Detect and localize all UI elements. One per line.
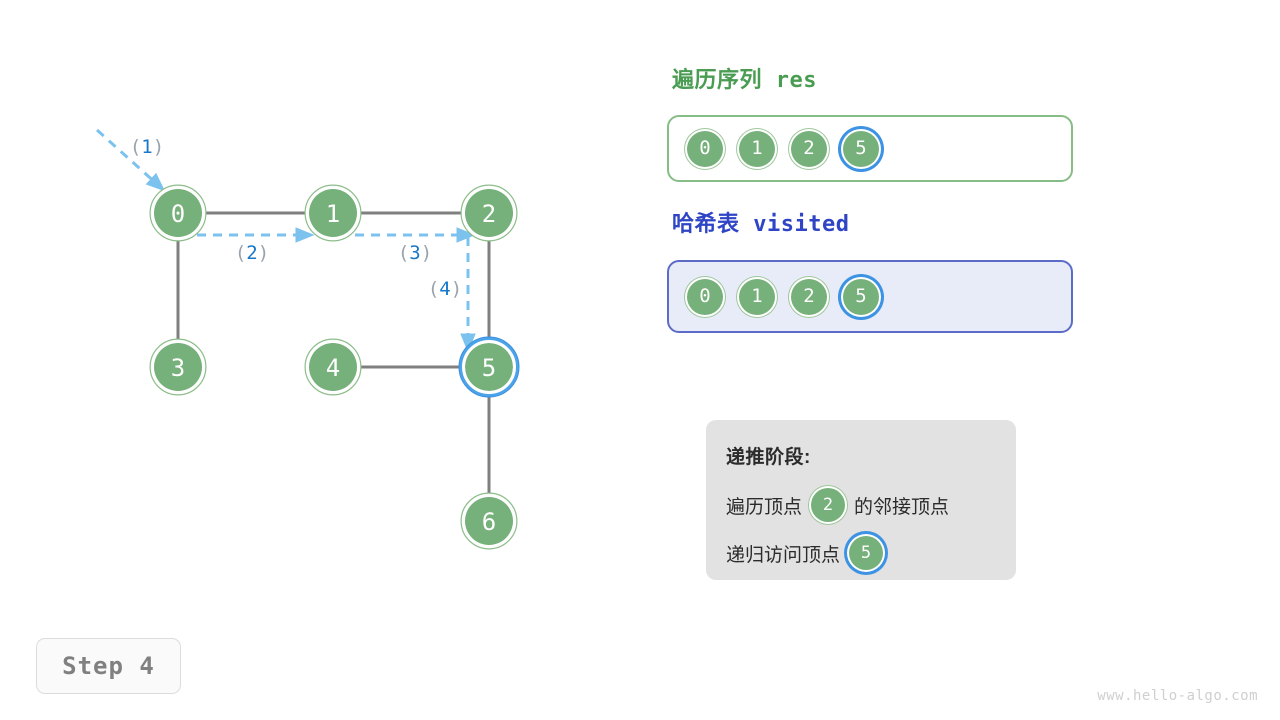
- graph-canvas: (1) (2) (3) (4) 0 1: [0, 0, 640, 720]
- info-line-1-suffix: 的邻接顶点: [854, 492, 949, 519]
- visited-chip-2-label: 2: [788, 276, 830, 318]
- visited-chip-2: 2: [788, 276, 830, 318]
- visited-section-title: 哈希表 visited: [672, 206, 849, 238]
- graph-node-2-label: 2: [482, 200, 496, 228]
- info-line-1-chip-label: 2: [808, 485, 848, 525]
- res-chip-1-label: 1: [736, 128, 778, 170]
- visited-chip-0-label: 0: [684, 276, 726, 318]
- res-chip-row: 0 1 2 5: [684, 117, 882, 180]
- visited-chip-3-label: 5: [840, 276, 882, 318]
- traversal-step-label-2: (2): [235, 242, 269, 264]
- res-chip-1: 1: [736, 128, 778, 170]
- graph-node-3-label: 3: [171, 354, 185, 382]
- info-line-2-prefix: 递归访问顶点: [726, 540, 840, 567]
- res-chip-3: 5: [840, 128, 882, 170]
- info-box-line-2: 递归访问顶点 5: [726, 533, 1016, 573]
- res-section-title: 遍历序列 res: [672, 62, 817, 94]
- step-badge-label: Step 4: [62, 652, 155, 680]
- info-line-2-chip: 5: [846, 533, 886, 573]
- traversal-step-label-4: (4): [428, 278, 462, 300]
- res-chip-2-label: 2: [788, 128, 830, 170]
- traversal-arrows: [97, 130, 468, 343]
- right-panel: 遍历序列 res 0 1 2 5 哈希表 visited: [640, 0, 1280, 720]
- graph-node-6[interactable]: 6: [462, 494, 517, 549]
- traversal-step-label-3: (3): [398, 242, 432, 264]
- graph-node-2[interactable]: 2: [462, 186, 517, 241]
- res-chip-2: 2: [788, 128, 830, 170]
- visited-chip-0: 0: [684, 276, 726, 318]
- traversal-step-label-1: (1): [130, 136, 164, 158]
- graph-node-1-label: 1: [326, 200, 340, 228]
- visited-chip-row: 0 1 2 5: [684, 262, 882, 331]
- res-chip-0-label: 0: [684, 128, 726, 170]
- graph-panel: (1) (2) (3) (4) 0 1: [0, 0, 640, 720]
- graph-node-5[interactable]: 5: [460, 338, 518, 396]
- graph-node-3[interactable]: 3: [151, 340, 206, 395]
- graph-node-4-label: 4: [326, 354, 340, 382]
- graph-node-5-label: 5: [482, 354, 496, 382]
- visited-array-box: 0 1 2 5: [667, 260, 1073, 333]
- info-line-1-prefix: 遍历顶点: [726, 492, 802, 519]
- res-array-box: 0 1 2 5: [667, 115, 1073, 182]
- watermark: www.hello-algo.com: [1097, 688, 1258, 704]
- res-chip-3-label: 5: [840, 128, 882, 170]
- visited-chip-1: 1: [736, 276, 778, 318]
- info-box-line-1: 遍历顶点 2 的邻接顶点: [726, 485, 1016, 525]
- step-badge: Step 4: [36, 638, 181, 694]
- info-line-1-chip: 2: [808, 485, 848, 525]
- graph-node-6-label: 6: [482, 508, 496, 536]
- graph-node-1[interactable]: 1: [306, 186, 361, 241]
- res-chip-0: 0: [684, 128, 726, 170]
- graph-node-0-label: 0: [171, 200, 185, 228]
- graph-node-4[interactable]: 4: [306, 340, 361, 395]
- info-line-2-chip-label: 5: [846, 533, 886, 573]
- visited-chip-1-label: 1: [736, 276, 778, 318]
- info-box-heading: 递推阶段:: [726, 442, 1016, 469]
- visited-chip-3: 5: [840, 276, 882, 318]
- info-box: 递推阶段: 遍历顶点 2 的邻接顶点 递归访问顶点 5: [706, 420, 1016, 580]
- graph-node-0[interactable]: 0: [151, 186, 206, 241]
